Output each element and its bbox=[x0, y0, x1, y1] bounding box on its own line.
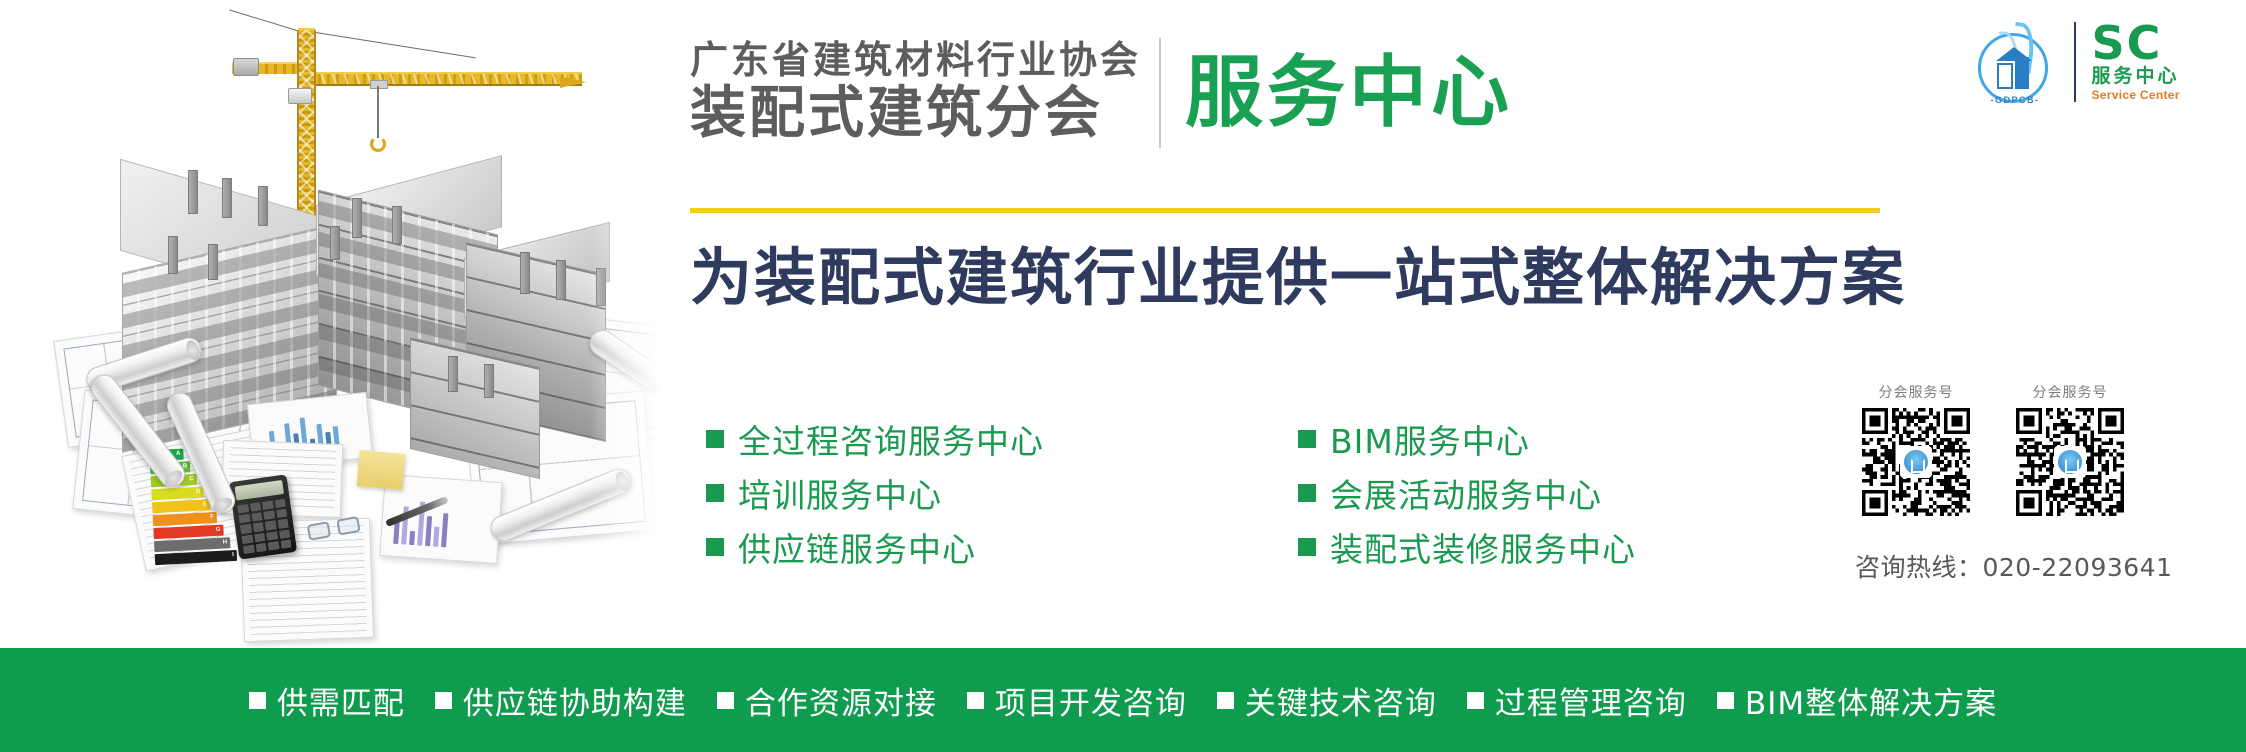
footer-item-label: BIM整体解决方案 bbox=[1745, 678, 1997, 723]
logo-building-shape bbox=[2015, 57, 2029, 89]
rebar-column-icon bbox=[392, 206, 402, 244]
service-item[interactable]: 全过程咨询服务中心 bbox=[706, 412, 1044, 466]
footer-item[interactable]: 合作资源对接 bbox=[717, 678, 937, 723]
square-bullet-icon bbox=[1298, 538, 1316, 556]
rebar-column-icon bbox=[208, 244, 218, 280]
qr-center-logo-icon bbox=[1900, 446, 1932, 478]
logo-divider bbox=[2074, 22, 2076, 102]
footer-item-list: 供需匹配 供应链协助构建 合作资源对接 项目开发咨询 关键技术咨询 过程管理咨询… bbox=[249, 678, 1997, 723]
hotline-text: 咨询热线：020-22093641 bbox=[1855, 548, 2215, 584]
footer-item[interactable]: 关键技术咨询 bbox=[1217, 678, 1437, 723]
service-item-label: 会展活动服务中心 bbox=[1330, 469, 1602, 517]
association-name: 广东省建筑材料行业协会 装配式建筑分会 bbox=[690, 40, 1141, 146]
footer-item[interactable]: 项目开发咨询 bbox=[967, 678, 1187, 723]
rebar-column-icon bbox=[520, 252, 530, 294]
banner-tagline: 为装配式建筑行业提供一站式整体解决方案 bbox=[690, 244, 1940, 312]
qr-center-logo-icon bbox=[2054, 446, 2086, 478]
sc-logo-text-group: SC 服务中心 Service Center bbox=[2092, 22, 2180, 102]
square-bullet-icon bbox=[717, 692, 734, 709]
crane-hoist-line-icon bbox=[377, 86, 379, 138]
hero-photo-canvas: A B C D E F G H I bbox=[0, 0, 680, 648]
qr-caption: 分会服务号 bbox=[1862, 382, 1970, 402]
service-item-label: 全过程咨询服务中心 bbox=[738, 415, 1044, 463]
crane-cable-icon bbox=[296, 30, 476, 103]
footer-item[interactable]: 供需匹配 bbox=[249, 678, 405, 723]
calculator-screen bbox=[235, 480, 284, 501]
rebar-column-icon bbox=[258, 186, 268, 226]
footer-item[interactable]: BIM整体解决方案 bbox=[1717, 678, 1997, 723]
rebar-column-icon bbox=[168, 236, 178, 274]
qr-code-cell: 分会服务号 bbox=[2016, 382, 2124, 516]
crane-jib-tip-icon bbox=[560, 76, 588, 88]
qr-code-cell: 分会服务号 bbox=[1862, 382, 1970, 516]
square-bullet-icon bbox=[706, 430, 724, 448]
crane-mast-icon bbox=[297, 30, 316, 240]
rebar-column-icon bbox=[448, 356, 458, 392]
service-item[interactable]: 供应链服务中心 bbox=[706, 520, 1044, 574]
service-list-right: BIM服务中心 会展活动服务中心 装配式装修服务中心 bbox=[1298, 412, 1636, 574]
hero-construction-image: A B C D E F G H I bbox=[0, 0, 680, 648]
qr-logo-glyph bbox=[2058, 450, 2082, 474]
square-bullet-icon bbox=[706, 484, 724, 502]
qr-caption: 分会服务号 bbox=[2016, 382, 2124, 402]
sticky-note bbox=[357, 450, 406, 490]
square-bullet-icon bbox=[1217, 692, 1234, 709]
service-item-label: 培训服务中心 bbox=[738, 469, 942, 517]
calculator-object bbox=[229, 474, 297, 559]
footer-item-label: 合作资源对接 bbox=[745, 678, 937, 723]
footer-item-label: 项目开发咨询 bbox=[995, 678, 1187, 723]
footer-item-label: 供需匹配 bbox=[277, 678, 405, 723]
banner-title-block: 广东省建筑材料行业协会 装配式建筑分会 服务中心 bbox=[690, 38, 1890, 148]
crane-backstay-cable-icon bbox=[229, 0, 309, 32]
service-center-title: 服务中心 bbox=[1185, 54, 1513, 132]
service-item[interactable]: 会展活动服务中心 bbox=[1298, 466, 1636, 520]
square-bullet-icon bbox=[1298, 430, 1316, 448]
square-bullet-icon bbox=[1467, 692, 1484, 709]
rebar-column-icon bbox=[222, 178, 232, 218]
title-vertical-divider bbox=[1159, 38, 1161, 148]
crane-jib-icon bbox=[312, 72, 582, 86]
qr-code-image[interactable] bbox=[2016, 408, 2124, 516]
service-item-label: 装配式装修服务中心 bbox=[1330, 523, 1636, 571]
square-bullet-icon bbox=[435, 692, 452, 709]
logo-gdpcb-text: -GDPCB- bbox=[1972, 95, 2058, 105]
title-row: 广东省建筑材料行业协会 装配式建筑分会 服务中心 bbox=[690, 38, 1890, 148]
rebar-column-icon bbox=[188, 170, 198, 214]
calculator-keypad bbox=[237, 499, 291, 554]
crane-trolley-icon bbox=[370, 80, 388, 89]
association-line-2: 装配式建筑分会 bbox=[690, 83, 1141, 146]
square-bullet-icon bbox=[1298, 484, 1316, 502]
footer-service-bar: 供需匹配 供应链协助构建 合作资源对接 项目开发咨询 关键技术咨询 过程管理咨询… bbox=[0, 648, 2246, 752]
logo-house-icon bbox=[1994, 55, 2034, 89]
qr-code-row: 分会服务号 分会服务号 bbox=[1862, 382, 2202, 516]
service-item-label: BIM服务中心 bbox=[1330, 415, 1530, 463]
footer-item-label: 供应链协助构建 bbox=[463, 678, 687, 723]
crane-cab-icon bbox=[288, 88, 312, 104]
footer-item-label: 关键技术咨询 bbox=[1245, 678, 1437, 723]
rebar-column-icon bbox=[556, 260, 566, 300]
yellow-divider-line bbox=[690, 208, 1880, 213]
square-bullet-icon bbox=[249, 692, 266, 709]
service-list-left: 全过程咨询服务中心 培训服务中心 供应链服务中心 bbox=[706, 412, 1044, 574]
qr-logo-glyph bbox=[1904, 450, 1928, 474]
square-bullet-icon bbox=[1717, 692, 1734, 709]
brand-logo: -GDPCB- SC 服务中心 Service Center bbox=[1972, 14, 2222, 110]
footer-item[interactable]: 供应链协助构建 bbox=[435, 678, 687, 723]
service-item[interactable]: 培训服务中心 bbox=[706, 466, 1044, 520]
gdpcb-logo-icon: -GDPCB- bbox=[1972, 19, 2058, 105]
sc-english-label: Service Center bbox=[2092, 88, 2180, 102]
square-bullet-icon bbox=[967, 692, 984, 709]
photo-edge-fade bbox=[590, 0, 680, 648]
rebar-column-icon bbox=[484, 364, 494, 398]
square-bullet-icon bbox=[706, 538, 724, 556]
association-line-1: 广东省建筑材料行业协会 bbox=[690, 40, 1141, 81]
qr-code-section: 分会服务号 分会服务号 bbox=[1862, 382, 2202, 516]
crane-counterweight-icon bbox=[233, 58, 259, 76]
footer-item[interactable]: 过程管理咨询 bbox=[1467, 678, 1687, 723]
footer-item-label: 过程管理咨询 bbox=[1495, 678, 1687, 723]
service-item[interactable]: BIM服务中心 bbox=[1298, 412, 1636, 466]
sc-abbreviation: SC bbox=[2092, 22, 2180, 66]
crane-hook-icon bbox=[370, 136, 386, 152]
rebar-column-icon bbox=[352, 198, 362, 238]
service-item-label: 供应链服务中心 bbox=[738, 523, 976, 571]
qr-code-image[interactable] bbox=[1862, 408, 1970, 516]
logo-building-shape bbox=[1997, 63, 2013, 89]
sc-chinese-label: 服务中心 bbox=[2092, 65, 2180, 88]
rebar-column-icon bbox=[330, 226, 340, 260]
service-item[interactable]: 装配式装修服务中心 bbox=[1298, 520, 1636, 574]
